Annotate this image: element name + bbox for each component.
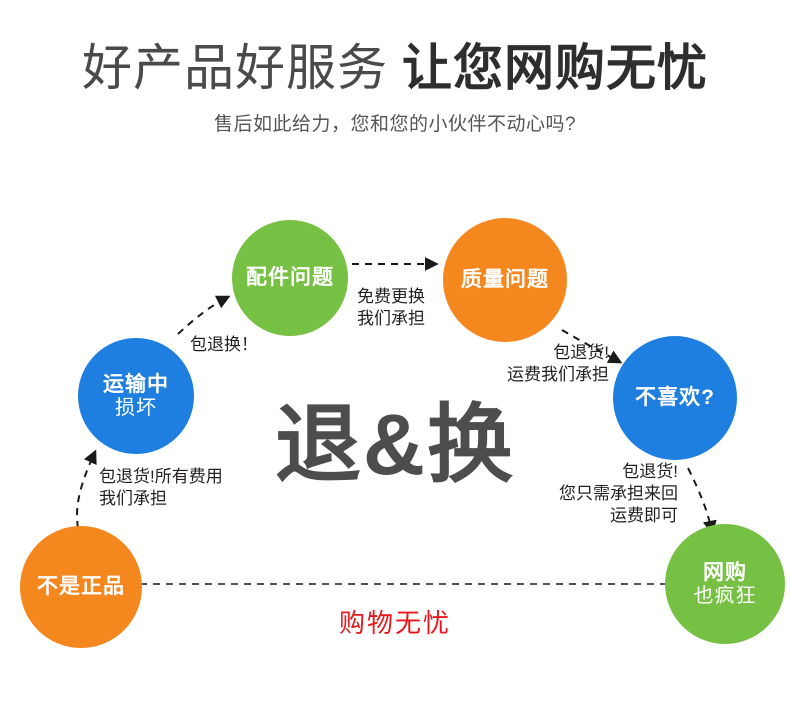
node-fake-label-1: 不是正品 [37, 575, 125, 599]
center-headline: 退&换 [0, 402, 790, 488]
caption-return-shipping-covered: 包退货! 运费我们承担 [467, 342, 609, 386]
bottom-slogan: 购物无忧 [0, 603, 790, 640]
caption-free-replacement: 免费更换 我们承担 [357, 286, 425, 330]
node-accessory-problem[interactable]: 配件问题 [232, 220, 348, 336]
node-accessory-label-1: 配件问题 [246, 266, 334, 290]
node-online-label-1: 网购 [703, 561, 747, 585]
node-shipping-label-1: 运输中 [103, 373, 169, 397]
node-quality-label-1: 质量问题 [461, 268, 549, 292]
node-quality-problem[interactable]: 质量问题 [443, 218, 567, 342]
poster-canvas: 好产品好服务让您网购无忧 售后如此给力，您和您的小伙伴不动心吗? [0, 0, 790, 719]
arrow-shipping-to-accessory [178, 297, 228, 334]
flow-diagram: 配件问题 质量问题 运输中 损坏 不喜欢? 不是正品 网购 也疯狂 包退换！ 免… [0, 0, 790, 719]
caption-exchange-guarantee: 包退换！ [190, 334, 258, 356]
